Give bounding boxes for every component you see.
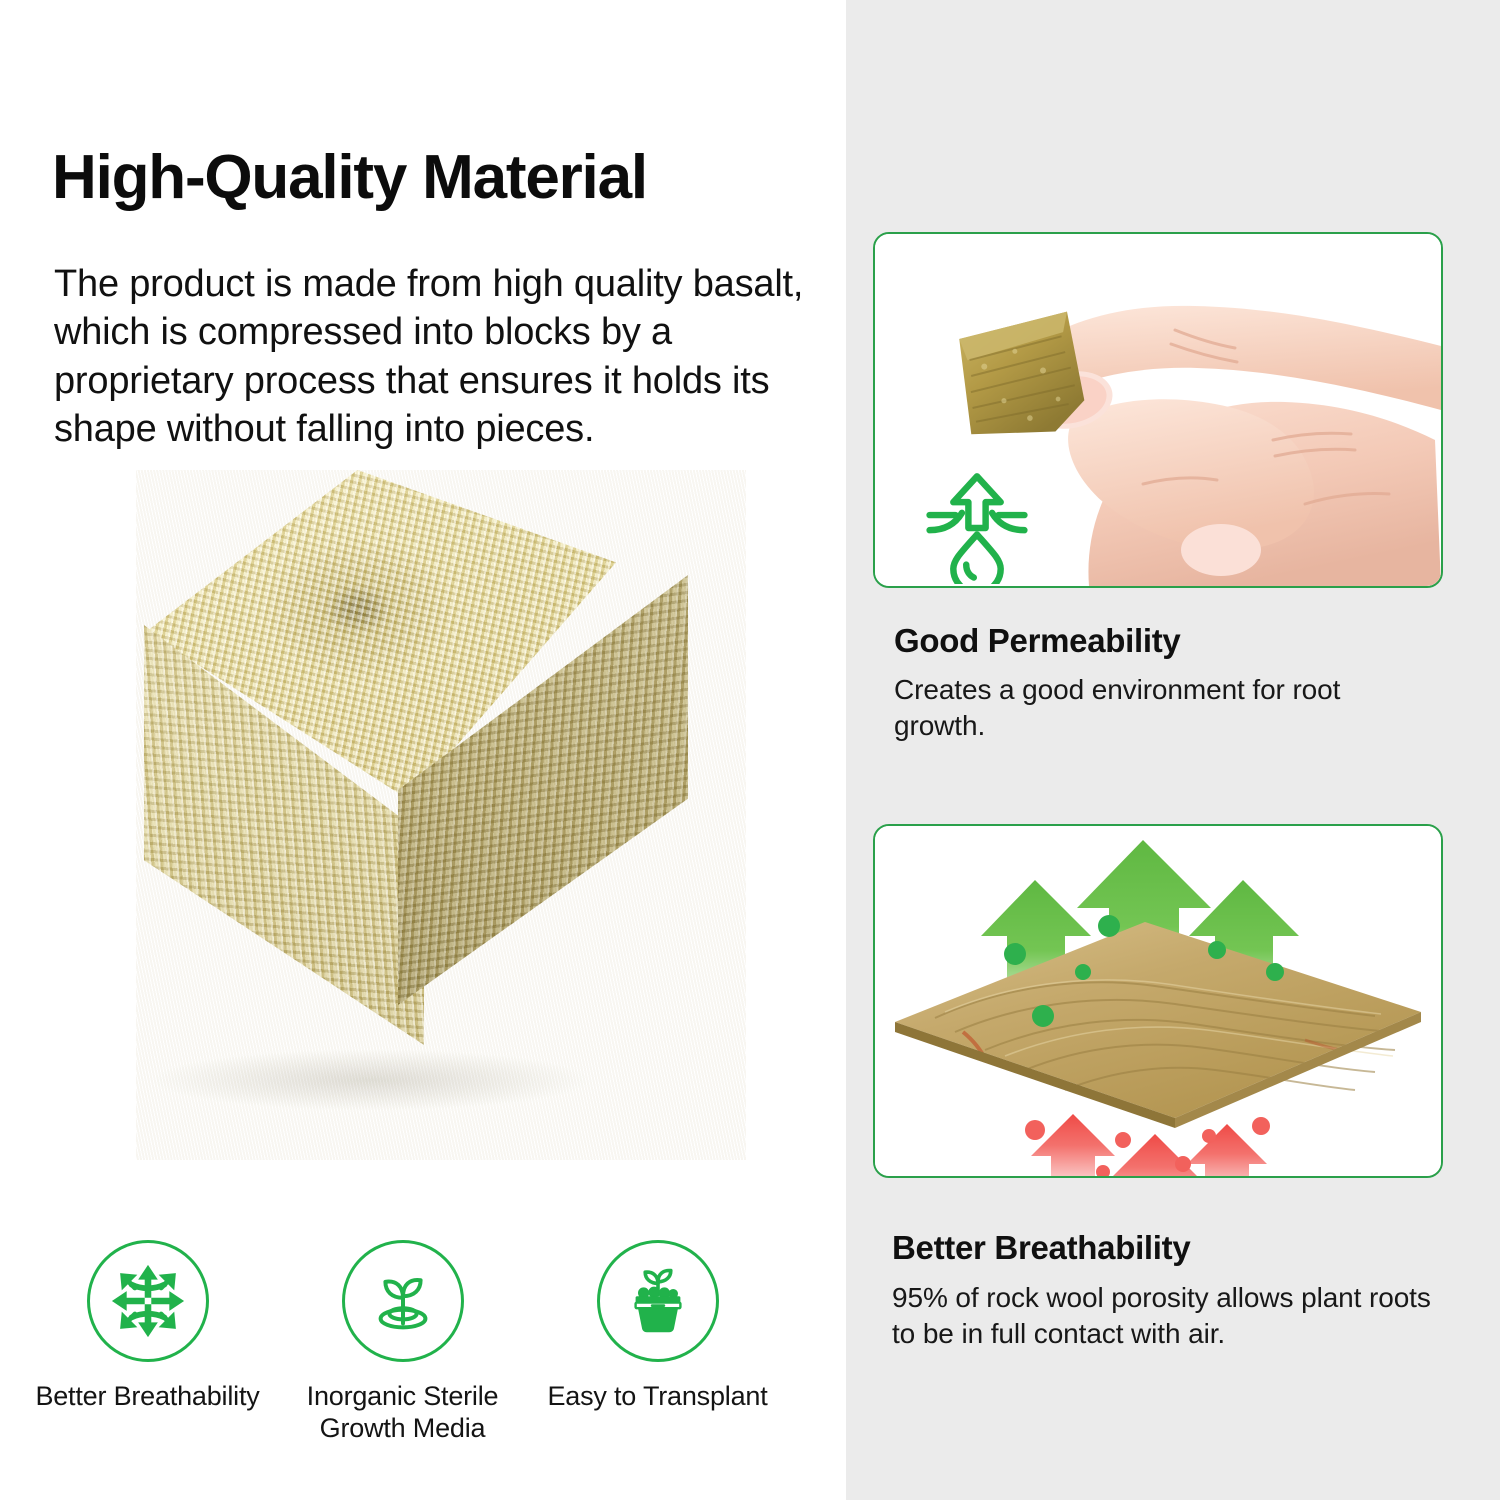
feature-label-transplant: Easy to Transplant bbox=[533, 1380, 783, 1412]
card-body-breathability: 95% of rock wool porosity allows plant r… bbox=[892, 1280, 1452, 1353]
plant-pot-icon bbox=[597, 1240, 719, 1362]
product-photo-rockwool-cube bbox=[96, 440, 786, 1230]
cube-illustration bbox=[136, 470, 746, 1160]
feature-label-breathability: Better Breathability bbox=[23, 1380, 273, 1412]
infographic-page: High-Quality Material The product is mad… bbox=[0, 0, 1500, 1500]
sterile-line-1: Inorganic Sterile bbox=[307, 1381, 499, 1411]
page-title: High-Quality Material bbox=[52, 146, 832, 209]
seedling-sprout-icon bbox=[342, 1240, 464, 1362]
card-heading-permeability: Good Permeability bbox=[894, 622, 1454, 660]
card-body-permeability: Creates a good environment for root grow… bbox=[894, 672, 1434, 745]
airflow-slab-diagram bbox=[875, 826, 1441, 1176]
intro-paragraph: The product is made from high quality ba… bbox=[54, 260, 814, 453]
sterile-line-2: Growth Media bbox=[320, 1413, 486, 1443]
feature-icon-row: Better Breathability Inorganic Steri bbox=[20, 1240, 820, 1470]
card-good-permeability bbox=[873, 232, 1443, 588]
feature-better-breathability: Better Breathability bbox=[20, 1240, 275, 1412]
card-heading-breathability: Better Breathability bbox=[892, 1229, 1452, 1267]
right-panel: Good Permeability Creates a good environ… bbox=[846, 0, 1500, 1500]
feature-label-sterile: Inorganic SterileGrowth Media bbox=[278, 1380, 528, 1445]
multi-direction-arrows-icon bbox=[87, 1240, 209, 1362]
water-permeability-icon bbox=[923, 472, 1031, 584]
rockwool-slab bbox=[895, 922, 1421, 1128]
feature-inorganic-sterile: Inorganic SterileGrowth Media bbox=[275, 1240, 530, 1445]
feature-easy-transplant: Easy to Transplant bbox=[530, 1240, 785, 1412]
red-arrows bbox=[1031, 1114, 1267, 1176]
card-better-breathability bbox=[873, 824, 1443, 1178]
left-panel: High-Quality Material The product is mad… bbox=[0, 0, 846, 1500]
